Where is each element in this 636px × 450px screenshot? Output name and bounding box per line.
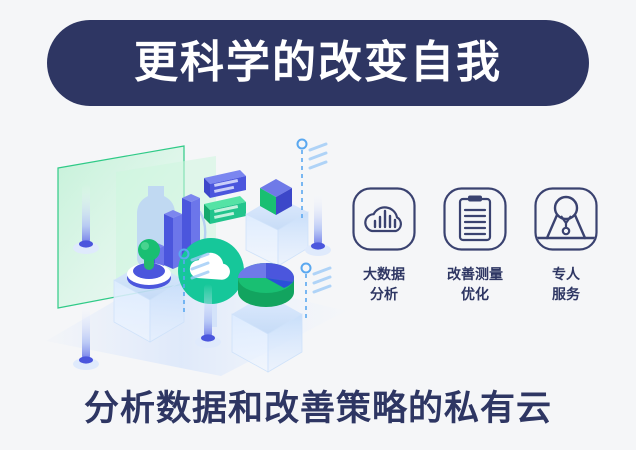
illustration-svg [36,126,346,376]
banner-stage: 更科学的改变自我 大数据 分析 [0,0,636,450]
feature-label: 专人 服务 [552,264,580,305]
bottom-headline: 分析数据和改善策略的私有云 [0,380,636,431]
feature-label: 大数据 分析 [363,264,405,305]
cloud-bar-chart-icon [351,186,417,252]
pin-marker [305,190,331,256]
feature-item-measurement[interactable]: 改善测量 优化 [439,186,511,336]
pin-marker [246,222,254,280]
service-person-icon [533,186,599,252]
banner-title: 更科学的改变自我 [134,41,502,85]
feature-item-big-data[interactable]: 大数据 分析 [348,186,420,336]
clipboard-icon [442,186,508,252]
isometric-illustration [36,126,346,376]
feature-item-service[interactable]: 专人 服务 [530,186,602,336]
feature-list: 大数据 分析 改善测量 优化 [348,186,602,336]
title-banner: 更科学的改变自我 [47,20,589,106]
feature-label: 改善测量 优化 [447,264,503,305]
